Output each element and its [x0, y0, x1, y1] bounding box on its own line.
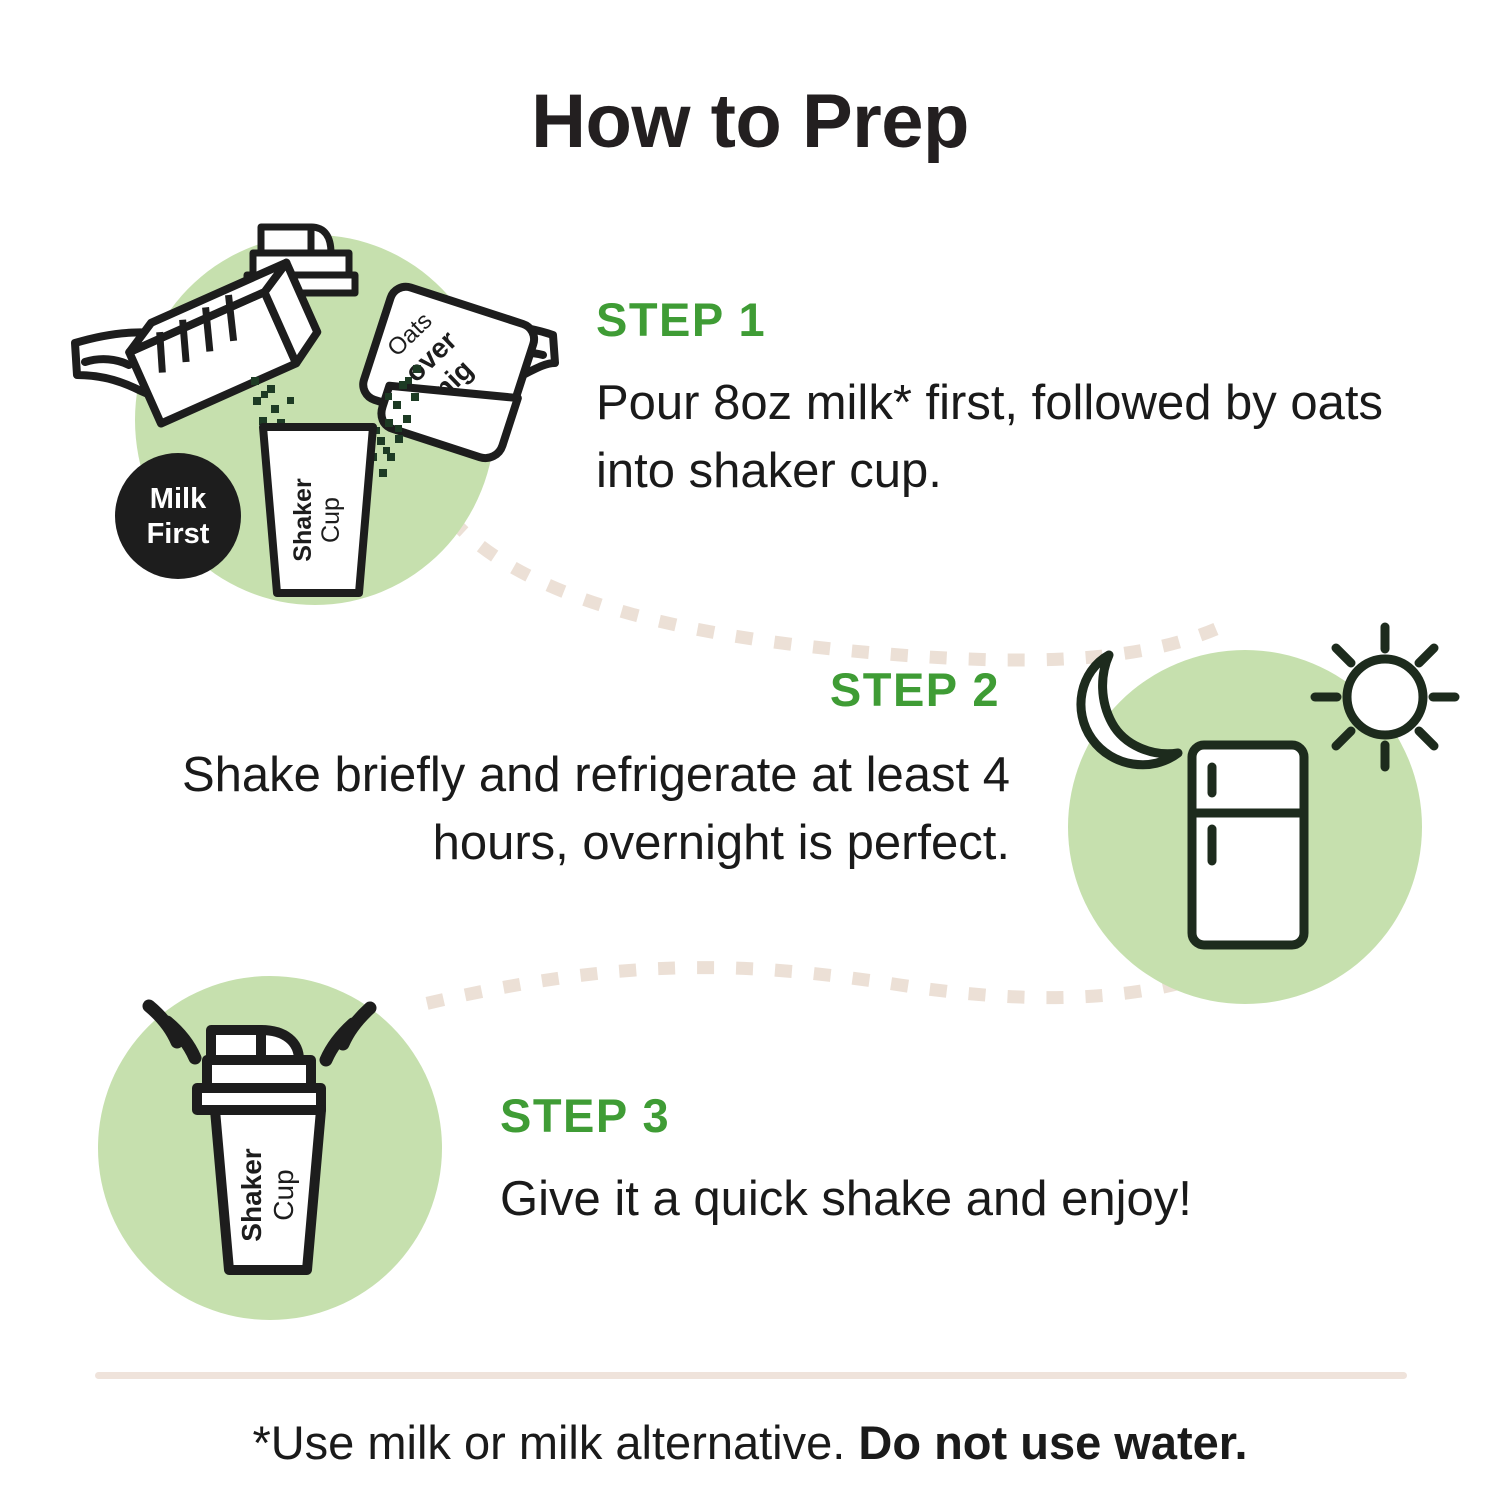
cup-label-line1: Shaker — [289, 478, 317, 562]
footer-note-bold: Do not use water. — [858, 1416, 1247, 1469]
shaker-cup-icon: Shaker Cup — [263, 427, 373, 593]
badge-line2: First — [147, 518, 210, 550]
step-1-body: Pour 8oz milk* first, followed by oats i… — [596, 370, 1386, 505]
infographic-canvas: How to Prep — [0, 0, 1500, 1500]
step2-illustration — [1040, 615, 1470, 1015]
step-2-body: Shake briefly and refrigerate at least 4… — [80, 742, 1010, 877]
step-3-label: STEP 3 — [500, 1088, 670, 1143]
refrigerator-icon — [1192, 745, 1304, 945]
milk-first-badge: Milk First — [115, 453, 241, 579]
step3-illustration: Shaker Cup — [85, 960, 485, 1330]
step1-illustration: Oats over nig — [55, 205, 575, 625]
footer-divider — [95, 1372, 1407, 1379]
cup-label-line2: Cup — [268, 1169, 299, 1220]
cup-label-line2: Cup — [317, 497, 345, 543]
step-2-label: STEP 2 — [830, 662, 1000, 717]
sun-icon — [1315, 627, 1455, 767]
footer-note-regular: *Use milk or milk alternative. — [252, 1416, 858, 1469]
footer-note: *Use milk or milk alternative. Do not us… — [0, 1415, 1500, 1470]
cup-label-line1: Shaker — [236, 1148, 267, 1241]
step-3-body: Give it a quick shake and enjoy! — [500, 1166, 1380, 1234]
badge-line1: Milk — [150, 483, 207, 515]
step-1-label: STEP 1 — [596, 292, 766, 347]
